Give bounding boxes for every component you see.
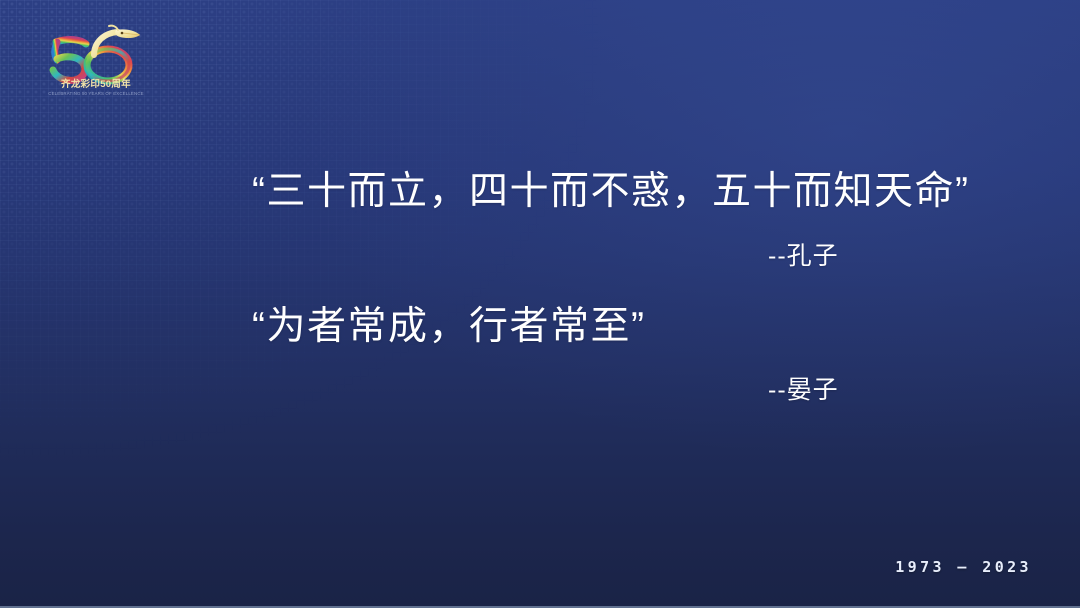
anniversary-year-range: 1973 — 2023 xyxy=(895,558,1032,576)
slide-content: “三十而立，四十而不惑，五十而知天命” --孔子 “为者常成，行者常至” --晏… xyxy=(0,0,1080,608)
quote-attribution-1: --孔子 xyxy=(768,236,839,272)
quote-text-2: “为者常成，行者常至” xyxy=(252,295,645,351)
quote-text-1: “三十而立，四十而不惑，五十而知天命” xyxy=(252,160,969,216)
presentation-slide: 齐龙彩印50周年 CELEBRATING 50 YEARS OF EXCELLE… xyxy=(0,0,1080,608)
quote-attribution-2: --晏子 xyxy=(768,370,839,406)
